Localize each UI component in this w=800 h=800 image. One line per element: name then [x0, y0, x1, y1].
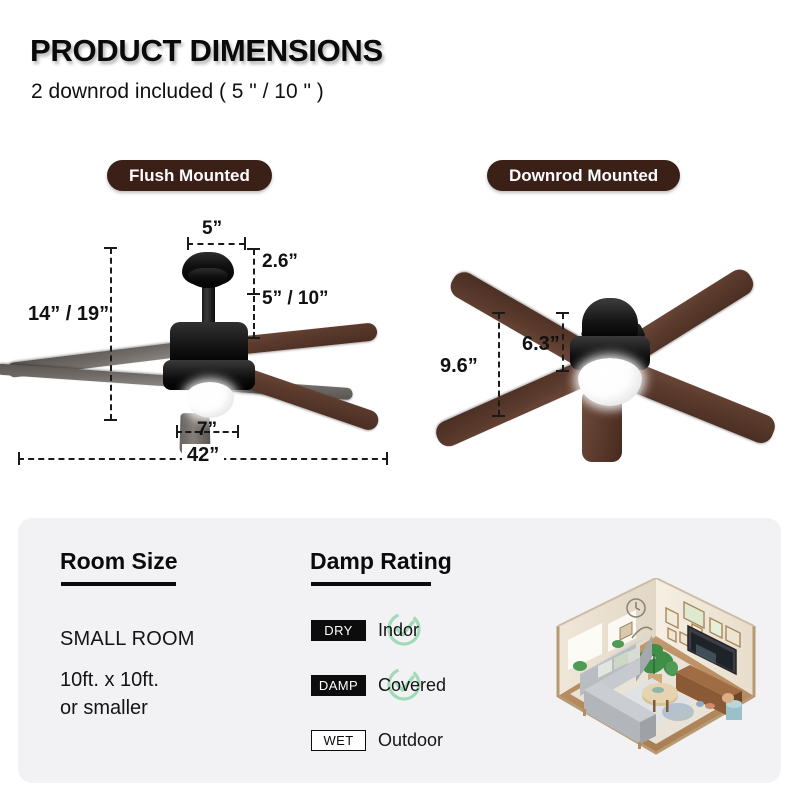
tick — [247, 337, 260, 339]
badge-dry: DRY — [311, 620, 366, 641]
tick — [237, 425, 239, 438]
rating-label-damp: Covered — [378, 675, 446, 696]
room-size-heading-rule — [61, 582, 176, 586]
dimension-canopy-width: 5” — [202, 218, 222, 240]
rating-label-wrap-damp: Covered — [378, 673, 446, 697]
label-flush-mounted: Flush Mounted — [107, 160, 272, 191]
tick — [556, 370, 569, 372]
damp-rating-heading: Damp Rating — [310, 548, 452, 575]
dimension-motor-height: 6.3” — [522, 333, 560, 356]
page-subtitle: 2 downrod included ( 5 " / 10 " ) — [31, 80, 324, 104]
canopy-ring — [188, 268, 228, 288]
badge-wet: WET — [311, 730, 366, 751]
measure-line-canopy-width — [187, 243, 245, 245]
rating-row-dry: DRY Indor — [311, 618, 419, 642]
damp-rating-heading-rule — [311, 582, 431, 586]
rating-label-wet: Outdoor — [378, 730, 443, 751]
dimension-overall-height: 14” / 19” — [28, 303, 109, 326]
badge-damp: DAMP — [311, 675, 366, 696]
tick — [556, 312, 569, 314]
tick — [492, 312, 505, 314]
measure-line-overall-height — [110, 248, 112, 420]
rating-row-damp: DAMP Covered — [311, 673, 446, 697]
dimension-light-diameter: 7” — [197, 419, 217, 441]
tick — [244, 237, 246, 250]
fan-diagram-downrod-mounted — [430, 240, 800, 480]
tick — [247, 293, 260, 295]
rating-label-dry: Indor — [378, 620, 419, 641]
tick — [386, 452, 388, 465]
tick — [176, 425, 178, 438]
measure-line-canopy-height — [253, 249, 255, 294]
tick — [104, 247, 117, 249]
dimension-right-overall-height: 9.6” — [440, 355, 478, 378]
light-kit — [578, 358, 642, 406]
page-title: PRODUCT DIMENSIONS — [30, 33, 383, 69]
light-kit — [186, 382, 234, 418]
rating-label-wrap-wet: Outdoor — [378, 728, 443, 752]
room-size-heading: Room Size — [60, 548, 178, 575]
tick — [104, 419, 117, 421]
tick — [187, 237, 189, 250]
measure-line-downrod-length — [253, 296, 255, 338]
isometric-living-room-illustration — [540, 578, 772, 763]
room-size-value: 10ft. x 10ft. or smaller — [60, 666, 159, 722]
label-downrod-mounted: Downrod Mounted — [487, 160, 680, 191]
room-size-line-1: 10ft. x 10ft. — [60, 666, 159, 694]
dimension-canopy-height: 2.6” — [262, 251, 298, 273]
measure-line-right-overall-height — [498, 313, 500, 416]
room-size-line-2: or smaller — [60, 694, 159, 722]
dimension-downrod-length: 5” / 10” — [262, 288, 329, 310]
product-dimensions-infographic: PRODUCT DIMENSIONS 2 downrod included ( … — [0, 0, 800, 800]
rating-label-wrap-dry: Indor — [378, 618, 419, 642]
tick — [492, 415, 505, 417]
tick — [247, 248, 260, 250]
tick — [18, 452, 20, 465]
room-type: SMALL ROOM — [60, 628, 195, 651]
measure-line-motor-height — [562, 313, 564, 371]
dimension-blade-span: 42” — [182, 444, 224, 467]
rating-row-wet: WET Outdoor — [311, 728, 443, 752]
